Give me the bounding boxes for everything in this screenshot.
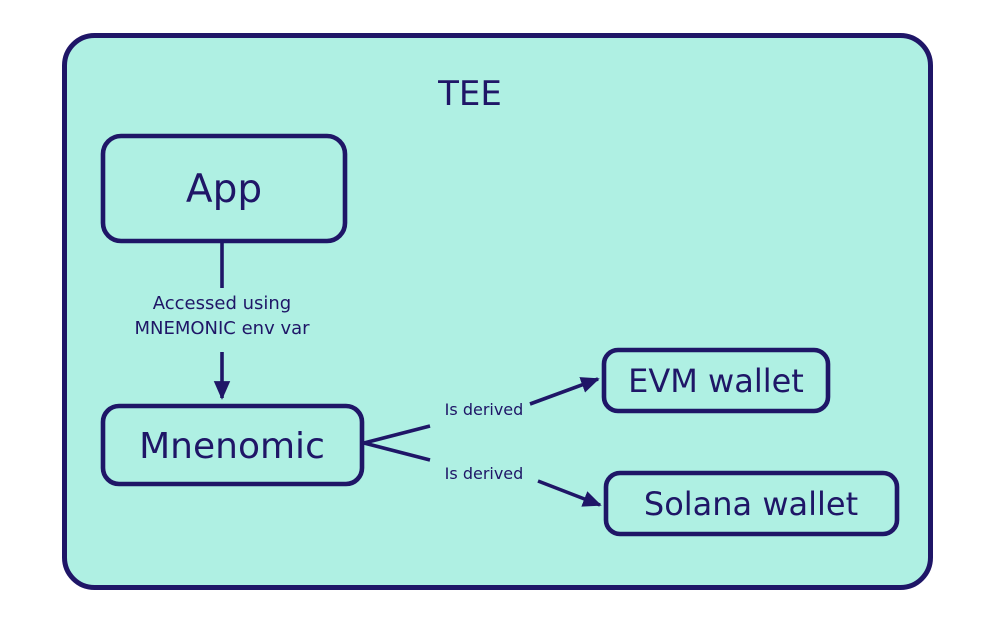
node-app[interactable]: App (103, 136, 345, 241)
edge-label-accessed-using-line1: Accessed using (153, 293, 291, 314)
edge-label-is-derived-evm: Is derived (445, 400, 524, 419)
node-mnenomic-label: Mnenomic (139, 426, 325, 467)
edge-label-is-derived-solana: Is derived (445, 464, 524, 483)
tee-title: TEE (437, 74, 502, 114)
node-solana-wallet-label: Solana wallet (644, 485, 858, 523)
node-evm-wallet[interactable]: EVM wallet (604, 350, 828, 411)
tee-architecture-diagram: TEE Accessed using MNEMONIC env var Is d… (0, 0, 996, 632)
node-app-label: App (186, 167, 262, 212)
node-solana-wallet[interactable]: Solana wallet (606, 473, 897, 534)
edge-label-accessed-using-line2: MNEMONIC env var (134, 318, 310, 339)
diagram-canvas: TEE Accessed using MNEMONIC env var Is d… (0, 0, 996, 632)
node-mnenomic[interactable]: Mnenomic (103, 406, 362, 484)
node-evm-wallet-label: EVM wallet (628, 362, 804, 400)
